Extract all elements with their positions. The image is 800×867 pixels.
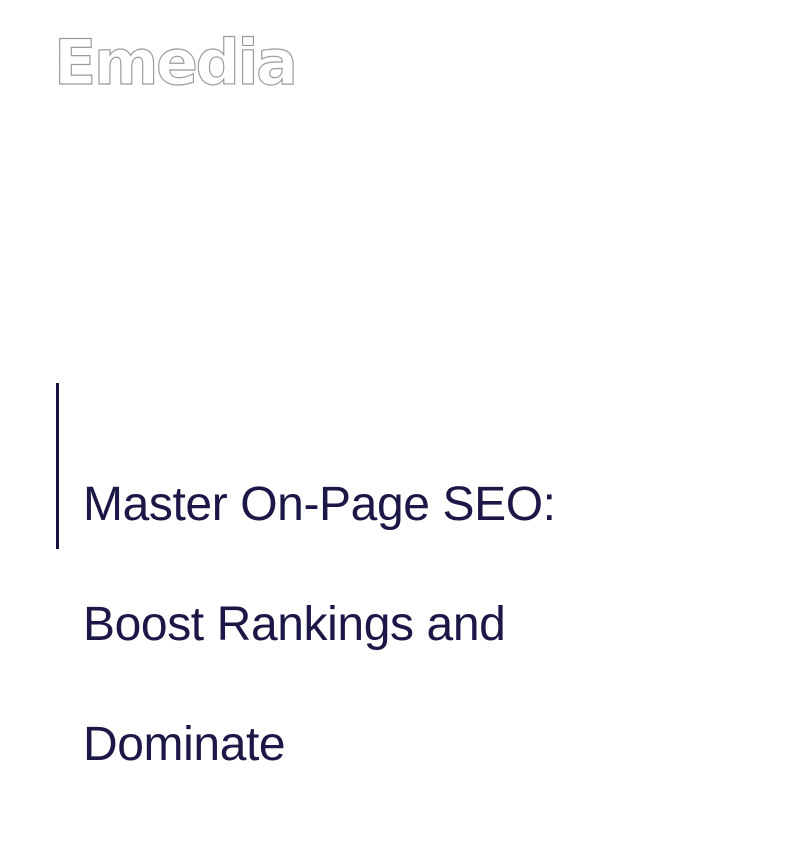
title-block: Master On-Page SEO: Boost Rankings and D…: [56, 383, 556, 867]
emedia-wordmark-logo: Emedia Emedia: [54, 28, 294, 100]
logo-wordmark-text: Emedia: [54, 26, 295, 99]
page-title-line-1: Master On-Page SEO:: [83, 475, 556, 535]
slide-canvas: Emedia Emedia Master On-Page SEO: Boost …: [0, 0, 800, 600]
page-title: Master On-Page SEO: Boost Rankings and D…: [83, 415, 556, 835]
page-title-line-3: Dominate: [83, 715, 556, 775]
page-title-line-2: Boost Rankings and: [83, 595, 556, 655]
title-accent-bar: [56, 383, 59, 549]
